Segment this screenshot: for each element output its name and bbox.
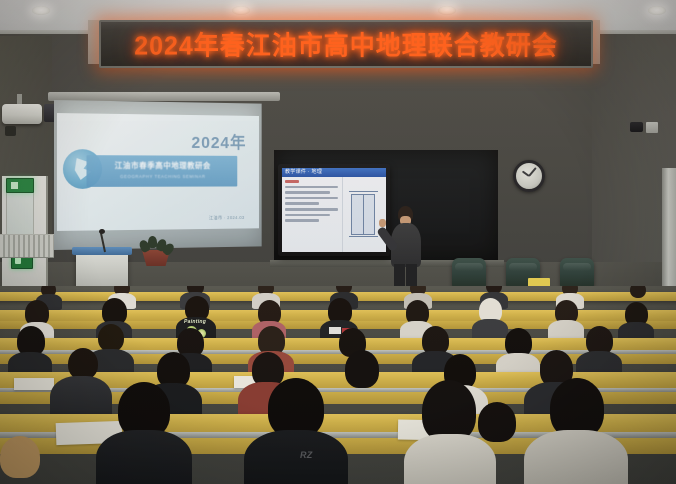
slide-title-text: 江油市春季高中地理教研会 (87, 160, 238, 171)
display-text-line (285, 219, 319, 222)
audience-member (462, 402, 532, 482)
lectern-top-surface (72, 247, 132, 255)
diagram-line (349, 191, 378, 192)
display-text-line (285, 208, 338, 211)
slide-subtitle-text: GEOGRAPHY TEACHING SEMINAR (87, 174, 238, 179)
display-text-column (282, 177, 342, 252)
lecture-hall-photo: 2024年春江油市高中地理联合教研会 2024年 江油市春季高中地理教研会 GE… (0, 0, 676, 484)
display-text-line (285, 202, 319, 205)
audience-hair (478, 402, 516, 442)
led-banner: 2024年春江油市高中地理联合教研会 (99, 20, 593, 68)
stage-chair (560, 258, 594, 288)
audience-member-foreground (0, 436, 64, 484)
lectern (76, 252, 128, 290)
display-screen: 教学课件 · 地理 (282, 168, 386, 252)
microphone-icon (99, 229, 105, 234)
ceiling-downlight (32, 6, 50, 15)
wall-clock-icon (513, 160, 545, 192)
audience-member (8, 326, 52, 378)
audience-member-foreground: RZ (244, 378, 348, 484)
audience-area: Painting (0, 286, 676, 484)
handout-paper (14, 378, 54, 390)
jacket-graphic-text: Painting (184, 319, 206, 325)
display-diagram-column (342, 177, 386, 252)
audience-member (618, 302, 654, 342)
ceiling-projector (2, 104, 42, 124)
display-text-line (285, 197, 338, 200)
wall-corner-strip (662, 168, 676, 296)
presenter (386, 206, 426, 290)
display-text-line (285, 191, 330, 194)
audience-body (96, 430, 192, 484)
projector-lens-icon (5, 126, 16, 136)
slide-year-text: 2024年 (191, 129, 246, 153)
diagram-line (363, 194, 364, 235)
audience-hair (268, 378, 324, 438)
display-text-line (285, 180, 299, 183)
audience-member-foreground (96, 382, 192, 484)
display-text-line (285, 186, 338, 189)
presenter-hand (379, 219, 386, 227)
display-text-line (285, 214, 330, 217)
audience-hair (0, 436, 40, 478)
wall-vent-grille (0, 234, 54, 258)
audience-member-foreground (524, 378, 628, 484)
slide-footer-text: 江油市 · 2024.03 (209, 215, 245, 221)
potted-plant (136, 236, 176, 266)
wall-sensor-icon (630, 122, 643, 132)
clock-minute-hand (528, 167, 536, 176)
audience-body (524, 430, 628, 484)
audience-hair (550, 378, 604, 438)
jacket-logo-text: RZ (300, 450, 313, 460)
display-content (282, 177, 386, 252)
presentation-slide: 2024年 江油市春季高中地理教研会 GEOGRAPHY TEACHING SE… (57, 113, 259, 231)
projection-screen: 2024年 江油市春季高中地理教研会 GEOGRAPHY TEACHING SE… (54, 100, 262, 250)
led-banner-text: 2024年春江油市高中地理联合教研会 (134, 25, 558, 63)
audience-body (244, 430, 348, 484)
exit-sign-icon (6, 178, 34, 193)
wall-display-monitor[interactable]: 教学课件 · 地理 (278, 164, 390, 256)
display-window-title: 教学课件 · 地理 (282, 168, 386, 177)
diagram-line (349, 236, 378, 237)
ceiling-downlight (648, 6, 666, 15)
wall-plate (646, 122, 658, 133)
ceiling-downlight (232, 6, 250, 15)
slide-title-band: 江油市春季高中地理教研会 GEOGRAPHY TEACHING SEMINAR (87, 155, 238, 187)
stage-chair (452, 258, 486, 288)
ceiling-downlight (438, 6, 456, 15)
